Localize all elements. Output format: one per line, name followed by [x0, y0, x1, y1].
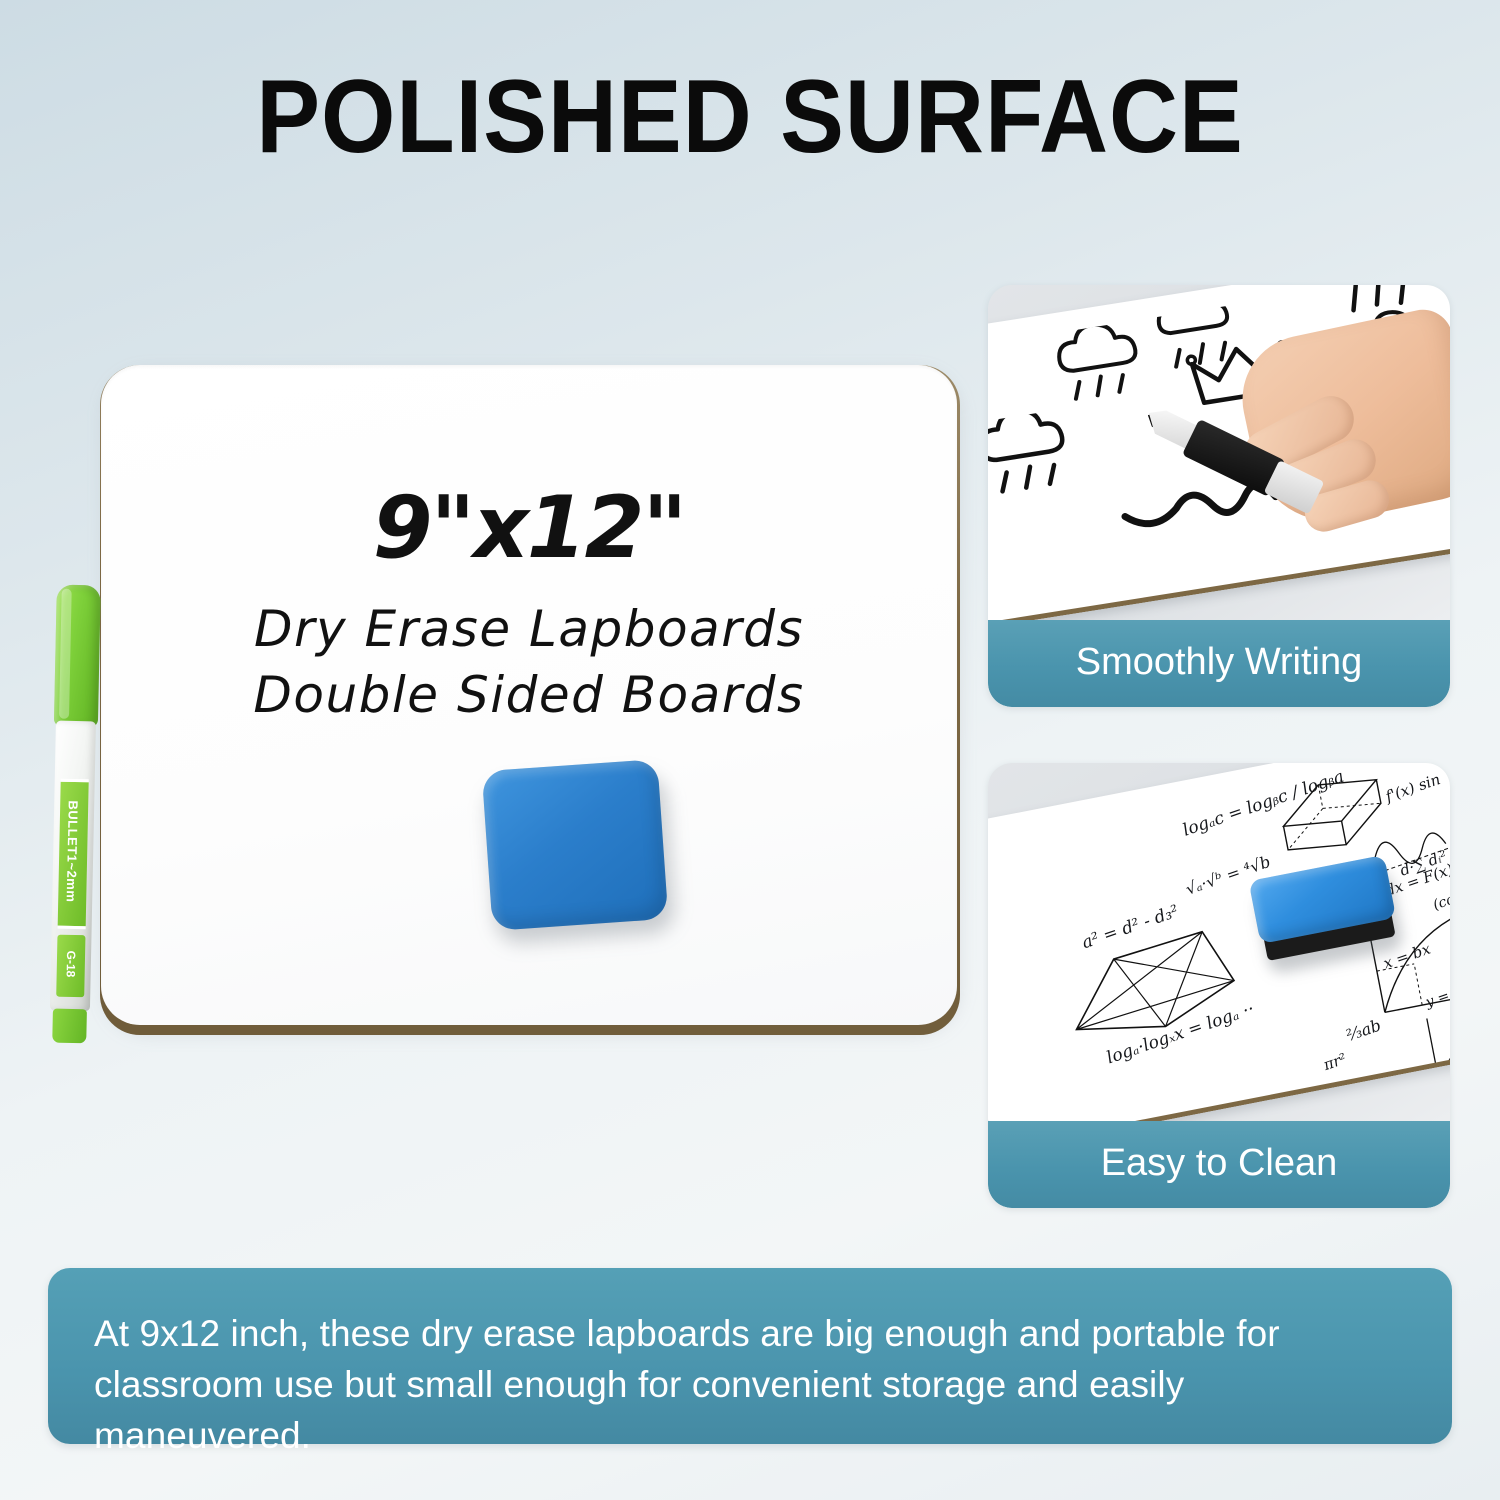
marker-cap [54, 585, 101, 728]
feature-photo-writing [988, 285, 1450, 620]
board-size-text: 9"x12" [101, 485, 957, 571]
rain-cloud-icon-2 [988, 403, 1113, 512]
marker-code-text: G-18 [63, 932, 78, 996]
feature-card-smoothly-writing[interactable]: Smoothly Writing [988, 285, 1450, 707]
marker-label-text: BULLET1~2mm [63, 776, 81, 926]
board-subtitle-line-1: Dry Erase Lapboards [101, 597, 957, 661]
marker-tip [52, 1009, 87, 1044]
board-subtitle-line-2: Double Sided Boards [101, 663, 957, 727]
page-title: POLISHED SURFACE [60, 58, 1440, 177]
banner-description-text: At 9x12 inch, these dry erase lapboards … [94, 1308, 1406, 1461]
board-text-block: 9"x12" Dry Erase Lapboards Double Sided … [101, 485, 957, 727]
marker-code-band: G-18 [56, 935, 85, 998]
bottom-description-banner: At 9x12 inch, these dry erase lapboards … [48, 1268, 1452, 1444]
green-marker-pen: BULLET1~2mm G-18 [41, 584, 109, 1045]
feature-card-easy-to-clean[interactable]: logₐc = logᵦc / logᵦa a² = d² - d₃² √ₐ·√… [988, 763, 1450, 1208]
formula-text: πr² [1321, 1050, 1349, 1075]
feature-label-smoothly-writing: Smoothly Writing [988, 620, 1450, 707]
eraser-body [482, 759, 669, 931]
feature-label-easy-to-clean: Easy to Clean [988, 1121, 1450, 1208]
blue-eraser-icon [487, 765, 672, 935]
marker-barrel: BULLET1~2mm G-18 [50, 721, 96, 1012]
feature-photo-cleaning: logₐc = logᵦc / logᵦa a² = d² - d₃² √ₐ·√… [988, 763, 1450, 1121]
marker-label-band: BULLET1~2mm [58, 779, 89, 930]
